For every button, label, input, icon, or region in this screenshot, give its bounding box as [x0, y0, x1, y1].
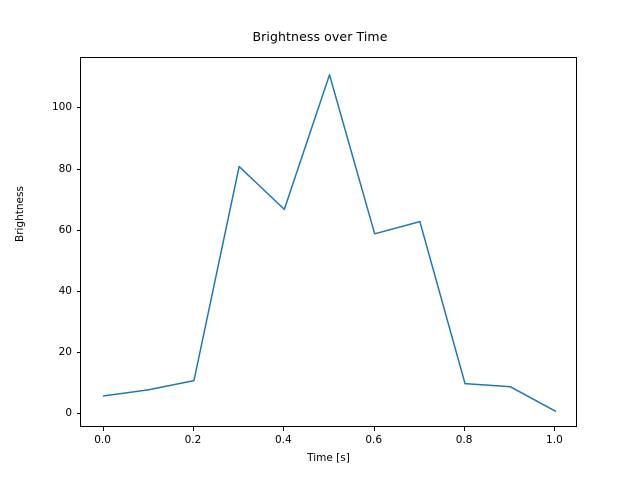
x-tick-label: 0.8	[456, 434, 473, 446]
y-tick-label: 100	[40, 101, 72, 113]
x-axis-label: Time [s]	[80, 452, 577, 464]
plot-area	[80, 57, 577, 427]
chart-title: Brightness over Time	[0, 29, 640, 44]
x-tick-label: 0.6	[365, 434, 382, 446]
line-series-brightness	[81, 58, 578, 428]
y-axis-label: Brightness	[14, 186, 26, 242]
series-polyline	[104, 75, 556, 411]
y-tick-label: 60	[40, 224, 72, 236]
y-tick-label: 20	[40, 346, 72, 358]
x-tick-label: 1.0	[546, 434, 563, 446]
y-tick-label: 0	[40, 407, 72, 419]
x-tick-label: 0.4	[275, 434, 292, 446]
x-tick-label: 0.0	[94, 434, 111, 446]
y-tick-label: 40	[40, 285, 72, 297]
chart-figure: Brightness over Time Brightness Time [s]…	[0, 0, 640, 480]
x-tick-label: 0.2	[185, 434, 202, 446]
y-tick-label: 80	[40, 163, 72, 175]
